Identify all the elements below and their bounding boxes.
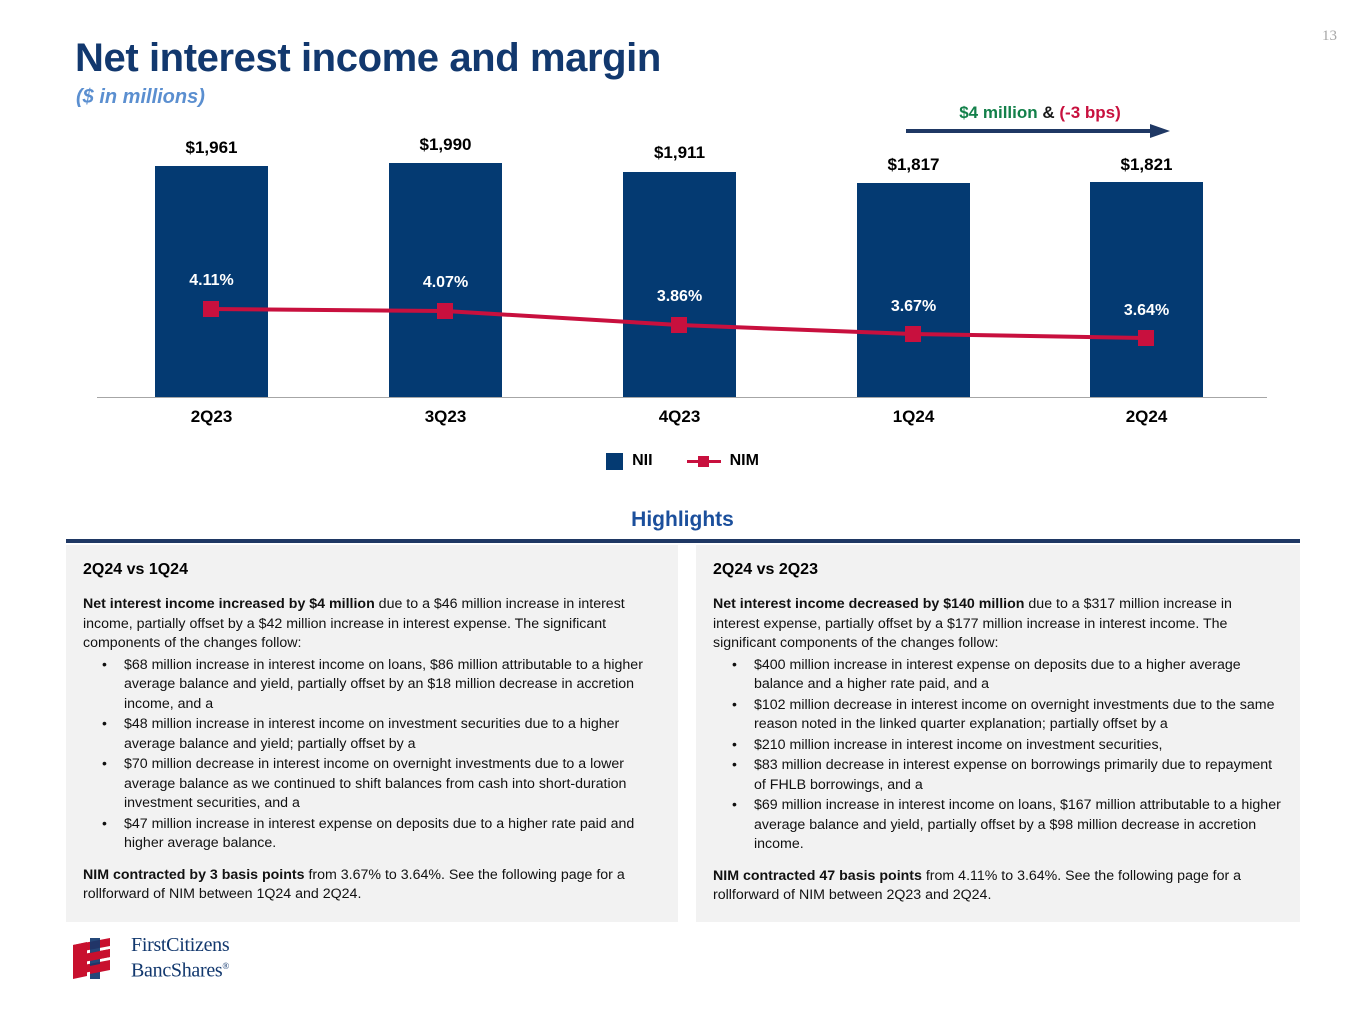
category-label-2q24: 2Q24 [1090, 407, 1203, 427]
list-item: $102 million decrease in interest income… [754, 696, 1282, 735]
list-item: $68 million increase in interest income … [124, 656, 660, 715]
bar-value-label: $1,817 [857, 155, 970, 175]
panel-lead-bold: Net interest income increased by $4 mill… [83, 596, 375, 612]
panel-closing-bold: NIM contracted by 3 basis points [83, 867, 305, 883]
bar-4q23 [623, 172, 736, 397]
square-swatch-icon [606, 453, 623, 470]
panel-heading: 2Q24 vs 1Q24 [83, 561, 660, 579]
category-label-1q24: 1Q24 [857, 407, 970, 427]
line-marker-icon [687, 454, 721, 468]
list-item: $48 million increase in interest income … [124, 715, 660, 754]
panel-closing-paragraph: NIM contracted 47 basis points from 4.11… [713, 867, 1282, 906]
panel-lead-paragraph: Net interest income increased by $4 mill… [83, 595, 660, 654]
highlights-section-title: Highlights [0, 508, 1365, 532]
nim-value-label: 3.86% [623, 288, 736, 306]
list-item: $47 million increase in interest expense… [124, 815, 660, 854]
list-item: $83 million decrease in interest expense… [754, 756, 1282, 795]
first-citizens-flag-icon [70, 936, 122, 981]
trademark-symbol: ® [222, 961, 229, 971]
bar-2q24 [1090, 182, 1203, 397]
bar-value-label: $1,821 [1090, 155, 1203, 175]
list-item: $400 million increase in interest expens… [754, 656, 1282, 695]
list-item: $70 million decrease in interest income … [124, 755, 660, 814]
panel-closing-bold: NIM contracted 47 basis points [713, 868, 922, 884]
nim-value-label: 3.67% [857, 298, 970, 316]
chart-legend: NII NIM [0, 452, 1365, 470]
company-logo: FirstCitizens BancShares® [70, 932, 255, 984]
bar-value-label: $1,911 [623, 143, 736, 163]
legend-item-nii[interactable]: NII [606, 452, 652, 470]
panel-lead-bold: Net interest income decreased by $140 mi… [713, 596, 1024, 612]
panel-closing-paragraph: NIM contracted by 3 basis points from 3.… [83, 866, 660, 905]
panel-bullet-list: $68 million increase in interest income … [80, 656, 660, 854]
logo-line-2: BancShares [131, 959, 222, 981]
category-label-4q23: 4Q23 [623, 407, 736, 427]
bar-value-label: $1,961 [155, 138, 268, 158]
logo-wordmark: FirstCitizens BancShares® [131, 935, 229, 982]
panel-bullet-list: $400 million increase in interest expens… [710, 656, 1282, 855]
highlights-divider [66, 539, 1300, 543]
nii-nim-chart: $1,961 $1,990 $1,911 $1,817 $1,821 4.11%… [0, 0, 1365, 500]
category-label-2q23: 2Q23 [155, 407, 268, 427]
bar-1q24 [857, 183, 970, 397]
list-item: $69 million increase in interest income … [754, 796, 1282, 855]
legend-item-nim[interactable]: NIM [687, 452, 759, 470]
list-item: $210 million increase in interest income… [754, 736, 1282, 756]
nim-value-label: 4.07% [389, 274, 502, 292]
legend-label-nim: NIM [730, 452, 759, 470]
highlights-panel-left: 2Q24 vs 1Q24 Net interest income increas… [66, 545, 678, 922]
chart-axis-line [97, 397, 1267, 398]
slide: 13 Net interest income and margin ($ in … [0, 0, 1365, 1024]
nim-value-label: 3.64% [1090, 302, 1203, 320]
panel-lead-paragraph: Net interest income decreased by $140 mi… [713, 595, 1282, 654]
category-label-3q23: 3Q23 [389, 407, 502, 427]
bar-value-label: $1,990 [389, 135, 502, 155]
logo-line-1: FirstCitizens [131, 935, 229, 956]
nim-value-label: 4.11% [155, 272, 268, 290]
highlights-panel-right: 2Q24 vs 2Q23 Net interest income decreas… [696, 545, 1300, 922]
panel-heading: 2Q24 vs 2Q23 [713, 561, 1282, 579]
legend-label-nii: NII [632, 452, 652, 470]
